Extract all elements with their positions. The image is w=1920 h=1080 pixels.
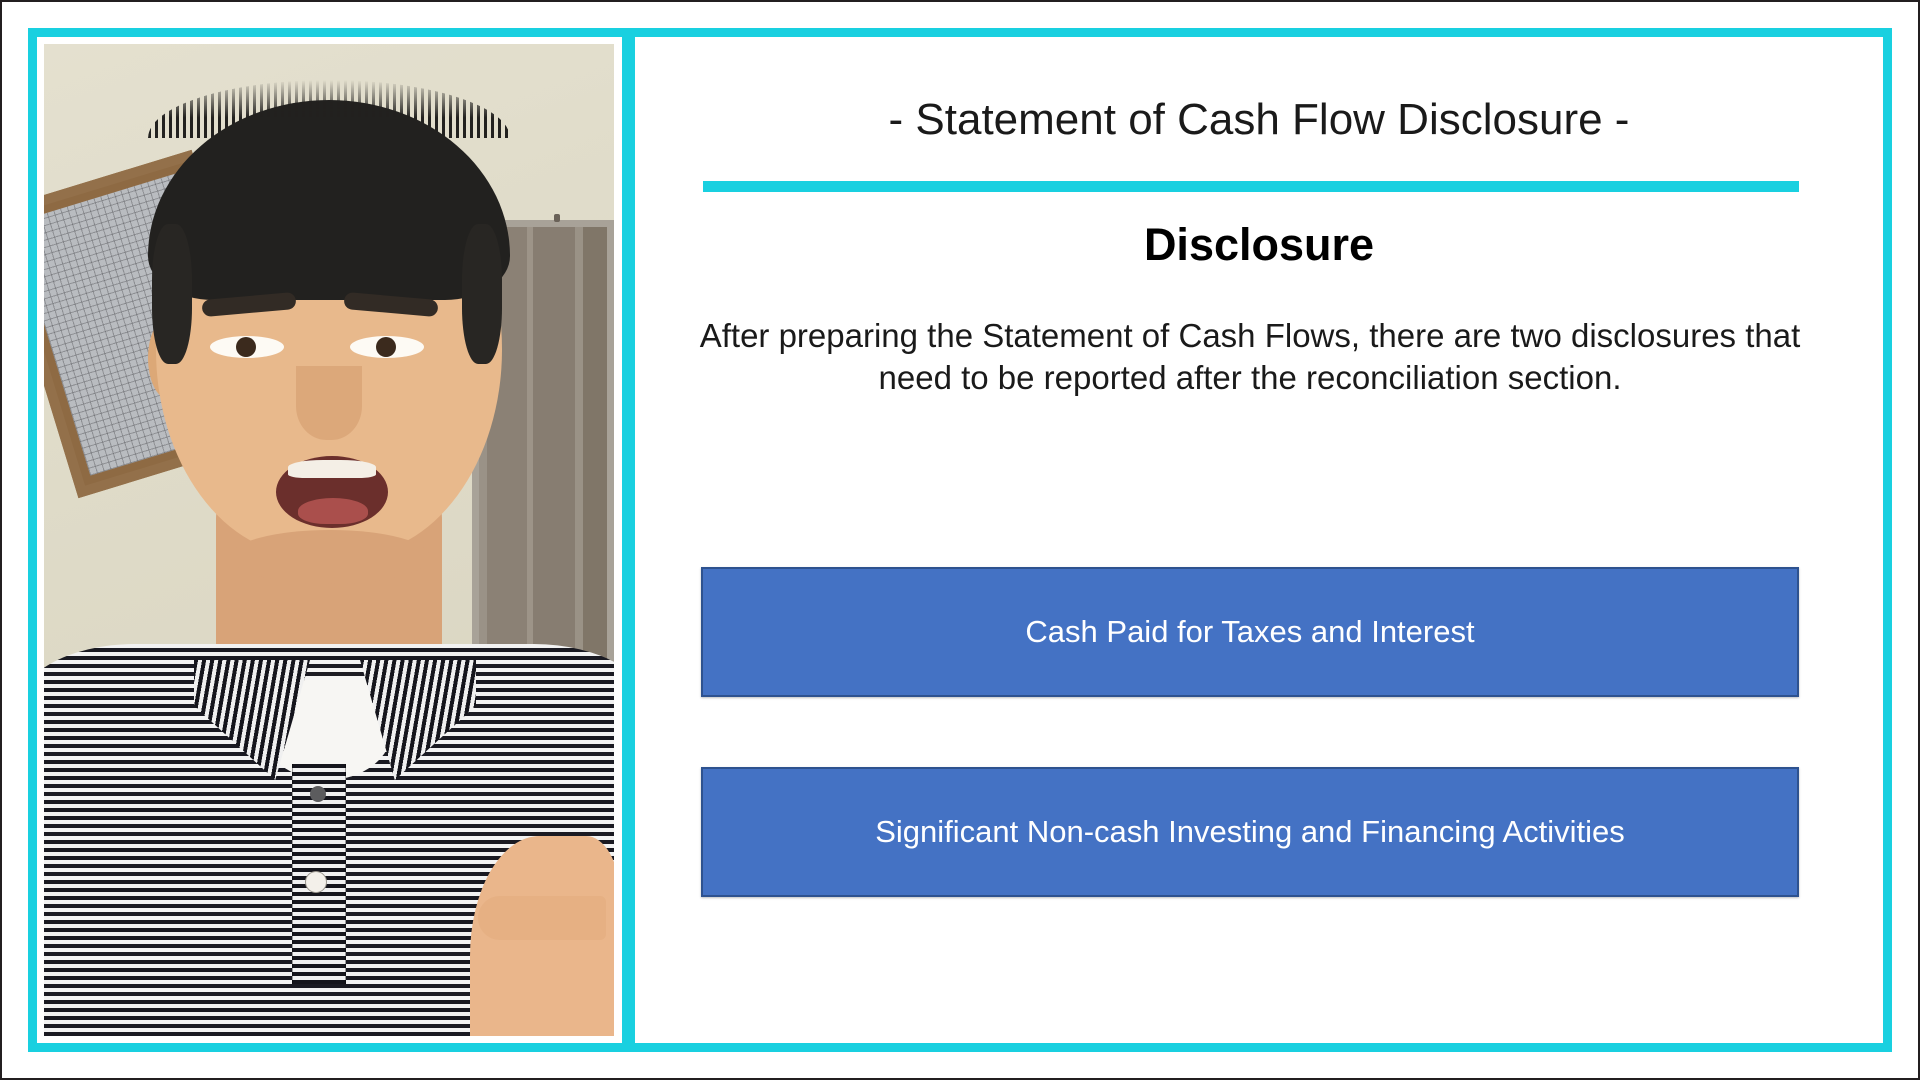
- presenter-eye-left: [210, 336, 284, 358]
- photo-scene: e LOVE: [44, 44, 614, 1036]
- slide-body-text: After preparing the Statement of Cash Fl…: [687, 315, 1813, 399]
- presenter-mouth: [276, 456, 388, 528]
- section-heading: Disclosure: [635, 219, 1883, 271]
- presenter-shirt-button-middle: [306, 872, 326, 892]
- slide-screen: e LOVE: [0, 0, 1920, 1080]
- presenter-eye-right: [350, 336, 424, 358]
- callout-box-noncash-investing-financing[interactable]: Significant Non-cash Investing and Finan…: [701, 767, 1799, 897]
- presenter-sideburn-right: [462, 224, 502, 364]
- presenter-shirt-button-top: [310, 786, 326, 802]
- presenter-sideburn-left: [152, 224, 192, 364]
- presenter-webcam-photo: e LOVE: [44, 44, 614, 1036]
- presenter-pupil-left: [236, 337, 256, 357]
- presenter-tongue: [298, 498, 368, 524]
- panel-divider: [622, 28, 635, 1052]
- presenter-chin: [230, 530, 430, 584]
- slide-title: - Statement of Cash Flow Disclosure -: [635, 95, 1883, 145]
- wall-nail: [554, 214, 560, 222]
- slide-content-panel: - Statement of Cash Flow Disclosure - Di…: [635, 37, 1883, 1043]
- presenter-teeth: [288, 460, 376, 478]
- presenter-pupil-right: [376, 337, 396, 357]
- presenter-nose: [296, 366, 362, 440]
- presenter-hair-spikes: [148, 80, 510, 138]
- title-underline-rule: [703, 181, 1799, 192]
- callout-label: Cash Paid for Taxes and Interest: [1025, 614, 1474, 650]
- presenter-finger: [478, 896, 606, 940]
- callout-box-cash-paid-taxes-interest[interactable]: Cash Paid for Taxes and Interest: [701, 567, 1799, 697]
- callout-label: Significant Non-cash Investing and Finan…: [875, 814, 1625, 850]
